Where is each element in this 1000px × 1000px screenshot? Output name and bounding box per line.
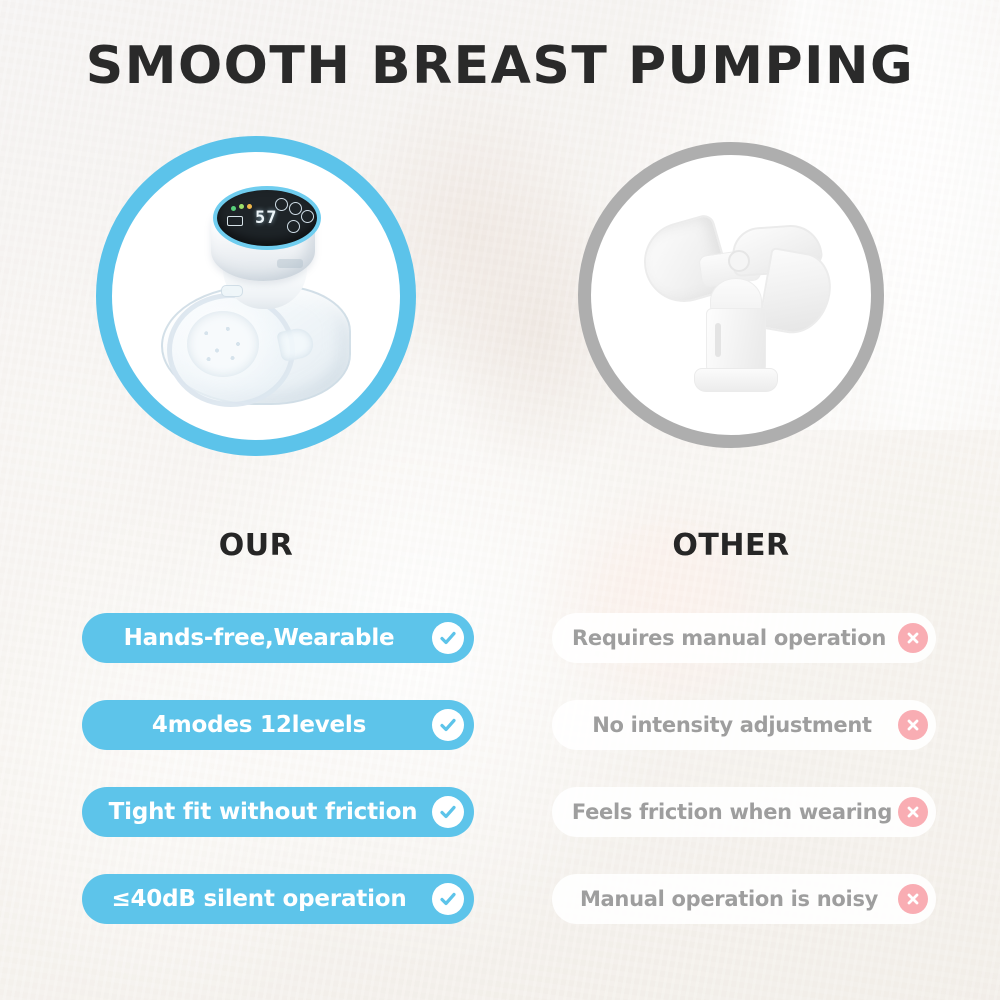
con-feature-pill[interactable]: No intensity adjustment — [552, 700, 936, 750]
pump-cup-clip — [221, 285, 243, 297]
x-icon — [898, 797, 928, 827]
check-icon — [432, 622, 464, 654]
con-feature-label: Feels friction when wearing — [572, 800, 892, 824]
check-icon — [432, 709, 464, 741]
led-indicator-lightgreen-icon — [239, 204, 244, 209]
wearable-electric-pump-illustration: 57 — [151, 189, 361, 404]
con-feature-pill[interactable]: Manual operation is noisy — [552, 874, 936, 924]
con-feature-label: No intensity adjustment — [592, 713, 872, 737]
manual-pump-bottle — [706, 308, 766, 376]
pump-led-display: 57 — [213, 186, 321, 250]
manual-pump-handle — [757, 247, 836, 339]
power-button-icon — [301, 210, 314, 223]
x-icon — [898, 623, 928, 653]
page-title: SMOOTH BREAST PUMPING — [0, 36, 1000, 96]
check-icon — [432, 883, 464, 915]
con-feature-label: Manual operation is noisy — [580, 887, 878, 911]
pro-feature-label: Hands-free,Wearable — [124, 625, 395, 651]
pump-petal-massager — [187, 311, 259, 377]
minus-button-icon — [287, 220, 300, 233]
con-feature-label: Requires manual operation — [572, 626, 886, 650]
display-level-value: 57 — [255, 208, 277, 228]
pro-feature-pill[interactable]: 4modes 12levels — [82, 700, 474, 750]
check-icon — [432, 796, 464, 828]
x-icon — [898, 710, 928, 740]
manual-pump-pivot — [728, 250, 750, 272]
pump-brand-mark — [277, 259, 303, 268]
pro-feature-label: Tight fit without friction — [109, 799, 418, 825]
other-product-image — [591, 155, 871, 435]
mode-button-icon — [275, 198, 288, 211]
pro-feature-label: ≤40dB silent operation — [111, 886, 406, 912]
pro-feature-pill[interactable]: Hands-free,Wearable — [82, 613, 474, 663]
led-indicator-orange-icon — [247, 204, 252, 209]
pro-feature-pill[interactable]: ≤40dB silent operation — [82, 874, 474, 924]
battery-icon — [227, 216, 243, 226]
con-feature-pill[interactable]: Requires manual operation — [552, 613, 936, 663]
our-product-image: 57 — [112, 152, 400, 440]
infographic-page: SMOOTH BREAST PUMPING 57 — [0, 0, 1000, 1000]
x-icon — [898, 884, 928, 914]
background-white-overlay — [0, 0, 1000, 1000]
manual-pump-illustration — [636, 190, 826, 400]
pro-feature-label: 4modes 12levels — [152, 712, 366, 738]
con-feature-pill[interactable]: Feels friction when wearing — [552, 787, 936, 837]
led-indicator-green-icon — [231, 206, 236, 211]
our-product-circle: 57 — [96, 136, 416, 456]
our-column-label: OUR — [96, 528, 416, 563]
other-product-circle — [578, 142, 884, 448]
plus-button-icon — [289, 202, 302, 215]
other-column-label: OTHER — [578, 528, 884, 563]
manual-pump-base — [694, 368, 778, 392]
pro-feature-pill[interactable]: Tight fit without friction — [82, 787, 474, 837]
